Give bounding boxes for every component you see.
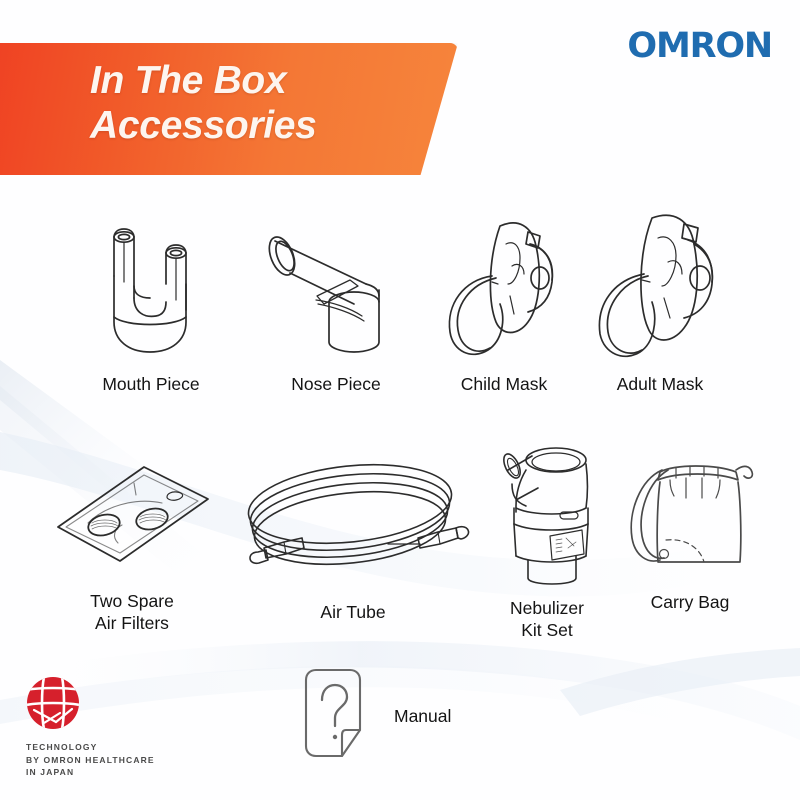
item-adult-mask: Adult Mask — [584, 200, 736, 395]
item-child-mask: Child Mask — [430, 200, 578, 395]
mouth-piece-icon — [76, 214, 226, 367]
banner-title: In The Box Accessories — [90, 58, 470, 148]
item-label: Carry Bag — [612, 591, 768, 613]
banner-title-line2: Accessories — [90, 103, 470, 148]
item-label: Adult Mask — [584, 373, 736, 395]
carry-bag-icon — [612, 436, 768, 583]
item-label: Manual — [394, 705, 451, 727]
item-nebulizer-kit: Nebulizer Kit Set — [486, 436, 608, 641]
item-carry-bag: Carry Bag — [612, 436, 768, 613]
infographic-page: In The Box Accessories OMRON — [0, 0, 800, 800]
item-label: Child Mask — [430, 373, 578, 395]
air-tube-icon — [228, 452, 478, 585]
item-label: Nebulizer Kit Set — [486, 597, 608, 641]
omron-logo: OMRON — [627, 26, 772, 66]
item-label: Two Spare Air Filters — [48, 590, 216, 634]
item-air-filters: Two Spare Air Filters — [48, 455, 216, 634]
item-label: Air Tube — [228, 601, 478, 623]
japan-technology-text: TECHNOLOGY BY OMRON HEALTHCARE IN JAPAN — [26, 741, 155, 779]
item-mouth-piece: Mouth Piece — [76, 214, 226, 395]
item-manual: Manual — [296, 668, 451, 763]
item-label: Mouth Piece — [76, 373, 226, 395]
manual-document-icon — [296, 668, 370, 763]
child-mask-icon — [430, 200, 578, 367]
banner-title-line1: In The Box — [90, 59, 286, 102]
japan-technology-badge-icon — [26, 676, 80, 735]
nebulizer-kit-icon — [486, 436, 608, 591]
item-label: Nose Piece — [254, 373, 418, 395]
air-filters-icon — [48, 455, 216, 578]
item-nose-piece: Nose Piece — [254, 214, 418, 395]
adult-mask-icon — [584, 200, 736, 367]
nose-piece-icon — [254, 214, 418, 367]
item-air-tube: Air Tube — [228, 452, 478, 623]
